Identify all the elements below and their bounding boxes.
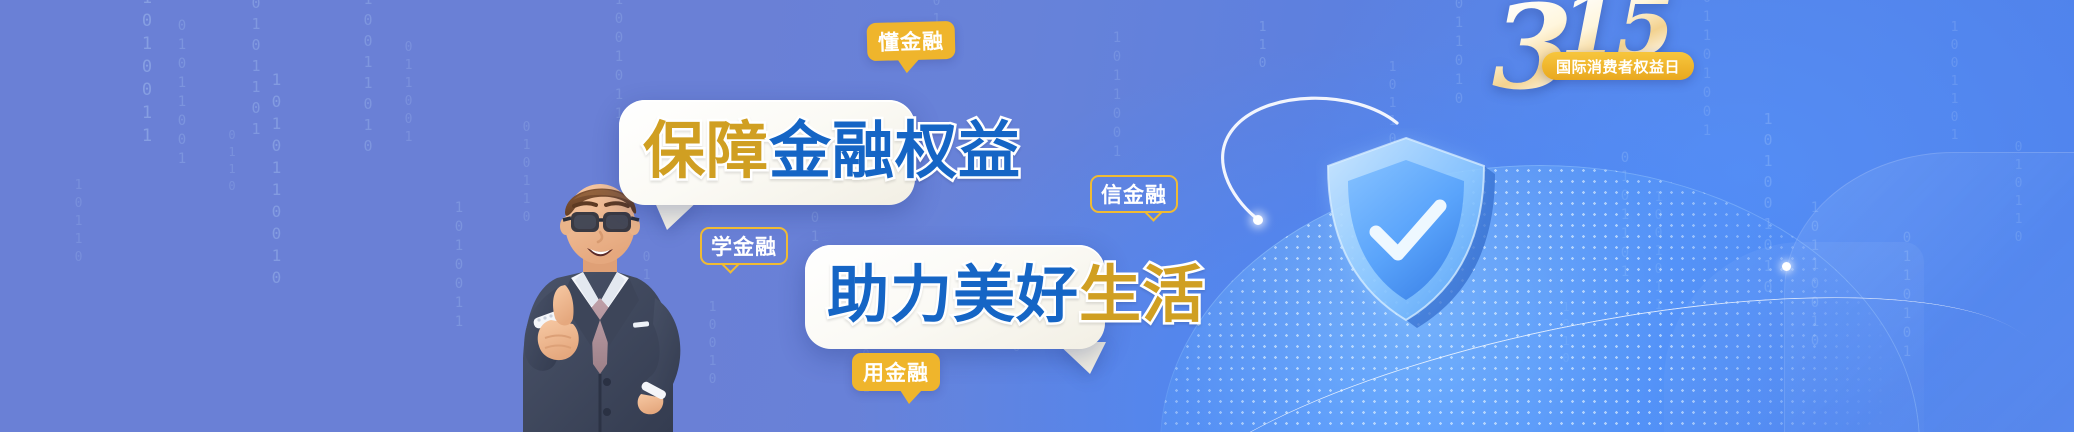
binary-column: 0110 bbox=[226, 128, 238, 196]
headline-line-1: 保障金融权益 bbox=[643, 120, 1021, 182]
binary-column: 1010011 bbox=[452, 200, 466, 333]
tag-xue-label: 学金融 bbox=[711, 231, 777, 261]
logo-315: 3 15 国际消费者权益日 bbox=[1490, 0, 1710, 106]
binary-column: 1011001 bbox=[1110, 30, 1124, 163]
tag-dong-label: 懂金融 bbox=[878, 25, 945, 57]
tag-xin-tail bbox=[1144, 203, 1162, 221]
tag-xue-jinrong[interactable]: 学金融 bbox=[700, 227, 788, 265]
binary-column: 01011001 bbox=[175, 18, 189, 170]
binary-column: 1010110010 bbox=[268, 70, 284, 290]
tag-xue-tail bbox=[721, 255, 739, 273]
headline-line-2: 助力美好生活 bbox=[827, 264, 1205, 326]
comet-head-dot bbox=[1253, 215, 1263, 225]
binary-column: 0101101 bbox=[248, 0, 263, 141]
headline-line-2-gold: 生活 bbox=[1079, 258, 1205, 331]
binary-column: 1001011 bbox=[612, 0, 626, 125]
binary-column: 110 bbox=[1256, 20, 1269, 74]
binary-column: 1001011 bbox=[1652, 190, 1665, 316]
tag-dong-jinrong[interactable]: 懂金融 bbox=[867, 21, 956, 61]
shield-check-icon bbox=[1316, 128, 1496, 333]
tag-yong-jinrong[interactable]: 用金融 bbox=[852, 353, 940, 391]
banner-315-financial-rights: 1010011010110010101101101011001001101011… bbox=[0, 0, 2074, 432]
tag-xin-jinrong[interactable]: 信金融 bbox=[1090, 175, 1178, 213]
headline-line-2-blue: 助力美好 bbox=[827, 258, 1079, 331]
tag-dong-tail bbox=[897, 59, 919, 74]
binary-column: 011010 bbox=[1452, 0, 1466, 110]
headline-bubble-secondary: 助力美好生活 bbox=[805, 245, 1105, 349]
binary-column: 011001 bbox=[402, 40, 415, 148]
logo-badge-consumer-rights-day: 国际消费者权益日 bbox=[1542, 52, 1694, 80]
binary-column: 10110 bbox=[72, 178, 85, 268]
binary-column: 1001101 bbox=[1948, 20, 1961, 146]
binary-column: 0101101 bbox=[1618, 150, 1632, 283]
headline-line-1-blue: 金融权益 bbox=[769, 114, 1021, 187]
binary-column: 1010011 bbox=[138, 0, 155, 149]
headline-bubble-primary: 保障金融权益 bbox=[619, 100, 915, 205]
orbit-node-dot bbox=[1782, 262, 1791, 271]
tag-yong-tail bbox=[900, 390, 922, 404]
tag-yong-label: 用金融 bbox=[863, 357, 929, 387]
binary-column: 10011010 bbox=[360, 0, 375, 158]
headline-line-1-gold: 保障 bbox=[643, 114, 769, 187]
